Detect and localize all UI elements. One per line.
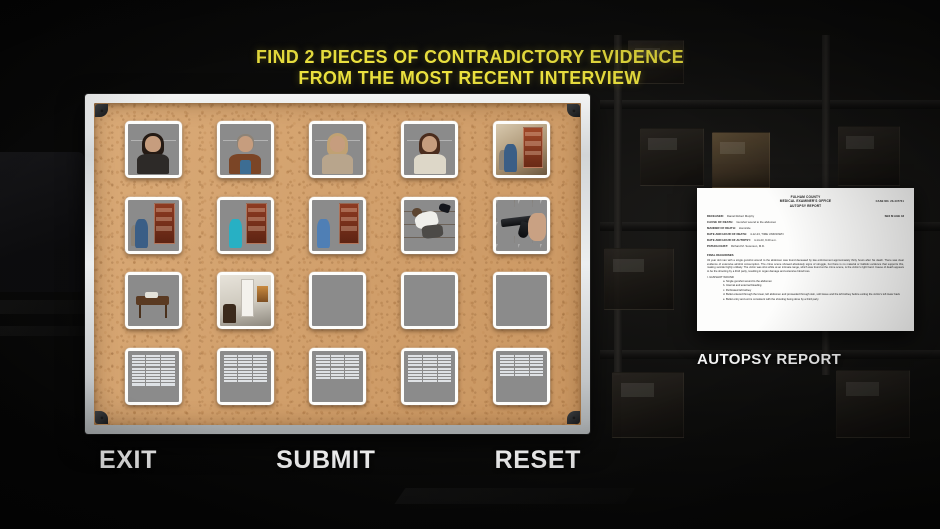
thumbnail-room-photo [220,275,271,326]
board-frame [85,94,590,434]
thumbnail-scene-photo [496,124,547,175]
evidence-item-table-2[interactable] [217,348,274,405]
thumbnail-weapon-photo [496,200,547,251]
thumbnail-interview-photo [128,124,179,175]
cork-surface [94,103,581,425]
report-field-date-of-death: DATE AND HOUR OF DEATH: 4-12-23, TIME UN… [707,233,904,236]
reset-button[interactable]: RESET [491,446,585,475]
exit-button[interactable]: EXIT [95,446,161,475]
report-field-list: DECEASED: Daniel Robert Murphy SEX M AGE… [707,215,904,248]
submit-button[interactable]: SUBMIT [272,446,379,475]
board-corner-bracket [567,411,580,424]
floor-light-streak [395,488,636,504]
evidence-item-body-photo[interactable] [401,197,458,254]
thumbnail-table-document [312,351,363,402]
evidence-item-scene-3[interactable] [217,197,274,254]
evidence-item-document-1[interactable] [309,272,366,329]
storage-box [612,372,684,438]
thumbnail-table-document [496,351,547,402]
thumbnail-table-document [404,351,455,402]
thumbnail-body-photo [404,200,455,251]
thumbnail-interview-photo [312,124,363,175]
thumbnail-table-document [128,351,179,402]
report-findings-list: I. GUNSHOT WOUND a. Single gunshot wound… [707,276,904,301]
thumbnail-room-photo [128,275,179,326]
finding-item: c. Perforated left kidney [723,289,904,293]
report-field-deceased: DECEASED: Daniel Robert Murphy SEX M AGE… [707,215,904,218]
evidence-item-interview-3[interactable] [309,121,366,178]
report-header: FULHAM COUNTY MEDICAL EXAMINER'S OFFICE … [707,195,904,208]
evidence-grid [94,103,581,425]
storage-box [836,370,910,438]
storage-box [604,248,674,310]
evidence-item-scene-2[interactable] [125,197,182,254]
evidence-item-document-2[interactable] [401,272,458,329]
thumbnail-document [312,275,363,326]
finding-item: e. Bullet entry and exit is consistent w… [723,298,904,302]
report-field-date-of-autopsy: DATE AND HOUR OF AUTOPSY: 4-14-23, 9:20 … [707,239,904,242]
report-field-pathologist: PATHOLOGIST: Richard M. Sorenson, M.D. [707,245,904,248]
storage-box [838,126,900,186]
evidence-item-scene-1[interactable] [493,121,550,178]
autopsy-report-caption: AUTOPSY REPORT [697,351,914,368]
thumbnail-interview-photo [220,124,271,175]
thumbnail-document [496,275,547,326]
evidence-item-scene-4[interactable] [309,197,366,254]
evidence-item-table-4[interactable] [401,348,458,405]
game-screen: FIND 2 PIECES OF CONTRADICTORY EVIDENCE … [0,0,940,529]
thumbnail-table-document [220,351,271,402]
report-case-number: CASE NO. 23-447741 [876,200,904,204]
evidence-item-interview-1[interactable] [125,121,182,178]
storage-box [640,128,704,186]
evidence-item-interview-4[interactable] [401,121,458,178]
foreground-desk [0,152,84,292]
report-narrative: 43 year old man with a single gunshot wo… [707,259,904,273]
finding-item: a. Single gunshot wound to the abdomen [723,280,904,284]
evidence-item-table-3[interactable] [309,348,366,405]
evidence-item-table-1[interactable] [125,348,182,405]
shelf-board [600,100,940,109]
shelf-post [614,35,622,375]
report-field-manner-of-death: MANNER OF DEATH: Homicide [707,227,904,230]
thumbnail-scene-photo [220,200,271,251]
autopsy-report-panel: FULHAM COUNTY MEDICAL EXAMINER'S OFFICE … [697,188,914,368]
report-field-cause-of-death: CAUSE OF DEATH: Gunshot wound to the abd… [707,221,904,224]
board-corner-bracket [567,104,580,117]
autopsy-report-page[interactable]: FULHAM COUNTY MEDICAL EXAMINER'S OFFICE … [697,188,914,331]
finding-item: b. Internal and external bleeding [723,284,904,288]
thumbnail-interview-photo [404,124,455,175]
thumbnail-scene-photo [312,200,363,251]
finding-item: d. Bullet entered through the lower, lef… [723,293,904,297]
evidence-item-weapon-photo[interactable] [493,197,550,254]
evidence-item-scene-6[interactable] [217,272,274,329]
thumbnail-scene-photo [128,200,179,251]
report-section-heading: FINAL DIAGNOSES [707,253,904,257]
board-corner-bracket [95,411,108,424]
evidence-board [85,94,590,434]
evidence-item-interview-2[interactable] [217,121,274,178]
thumbnail-document [404,275,455,326]
report-doc-title: AUTOPSY REPORT [707,204,904,208]
storage-box [712,132,770,188]
storage-box [628,40,684,84]
action-bar: EXIT SUBMIT RESET [95,441,585,479]
evidence-item-table-5[interactable] [493,348,550,405]
evidence-item-scene-5[interactable] [125,272,182,329]
evidence-item-document-3[interactable] [493,272,550,329]
